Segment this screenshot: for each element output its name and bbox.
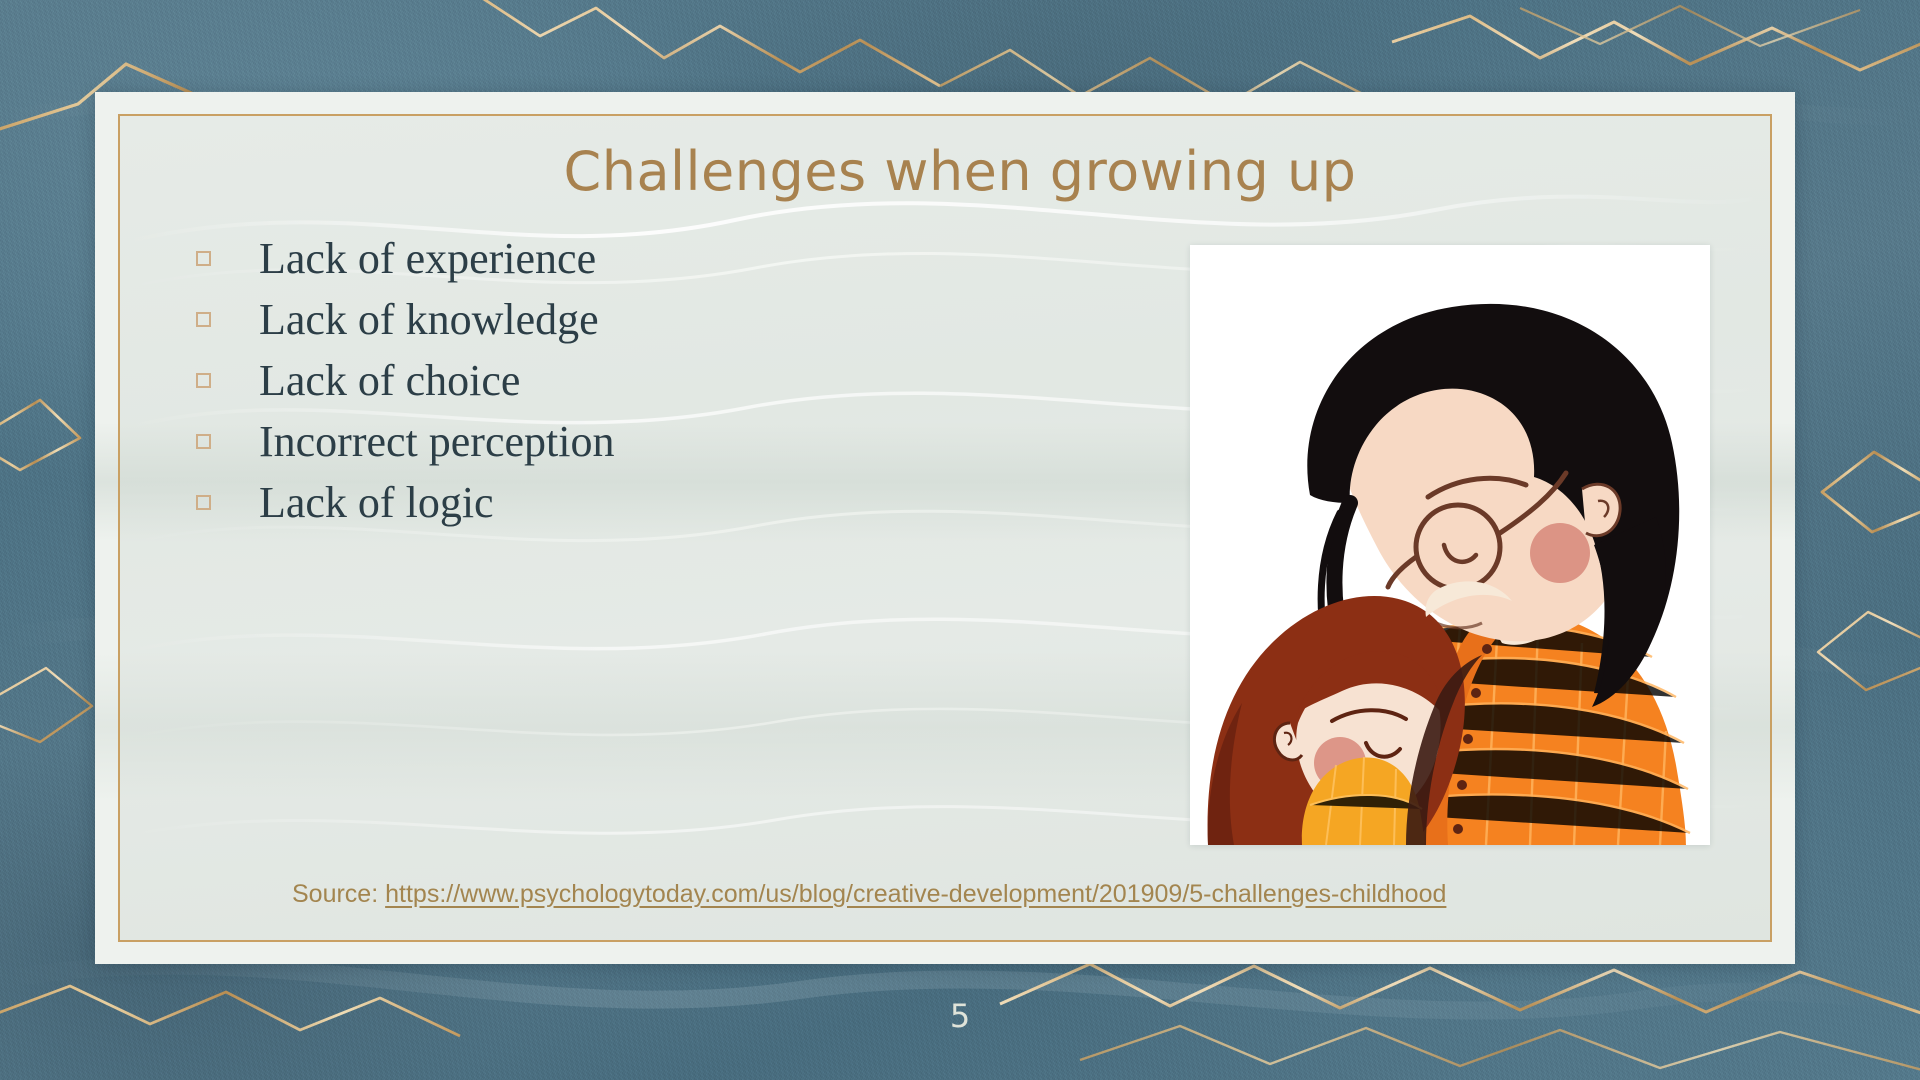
hollow-square-bullet-icon	[196, 434, 211, 449]
hollow-square-bullet-icon	[196, 495, 211, 510]
list-item-label: Lack of knowledge	[259, 294, 599, 345]
list-item: Lack of choice	[196, 350, 956, 411]
list-item-label: Lack of logic	[259, 477, 494, 528]
slide-illustration	[1190, 245, 1710, 845]
list-item-label: Lack of experience	[259, 233, 596, 284]
list-item: Lack of experience	[196, 228, 956, 289]
list-item: Incorrect perception	[196, 411, 956, 472]
hollow-square-bullet-icon	[196, 251, 211, 266]
list-item: Lack of logic	[196, 472, 956, 533]
source-link[interactable]: https://www.psychologytoday.com/us/blog/…	[385, 880, 1446, 908]
page-number: 5	[0, 997, 1920, 1035]
source-line: Source: https://www.psychologytoday.com/…	[292, 880, 1446, 909]
list-item-label: Incorrect perception	[259, 416, 614, 467]
hollow-square-bullet-icon	[196, 373, 211, 388]
list-item-label: Lack of choice	[259, 355, 520, 406]
slide-title: Challenges when growing up	[0, 140, 1920, 203]
hollow-square-bullet-icon	[196, 312, 211, 327]
bullet-list: Lack of experience Lack of knowledge Lac…	[196, 228, 956, 533]
list-item: Lack of knowledge	[196, 289, 956, 350]
source-label: Source:	[292, 880, 378, 908]
mother-and-child-illustration	[1190, 245, 1710, 845]
presentation-slide: Challenges when growing up Lack of exper…	[0, 0, 1920, 1080]
